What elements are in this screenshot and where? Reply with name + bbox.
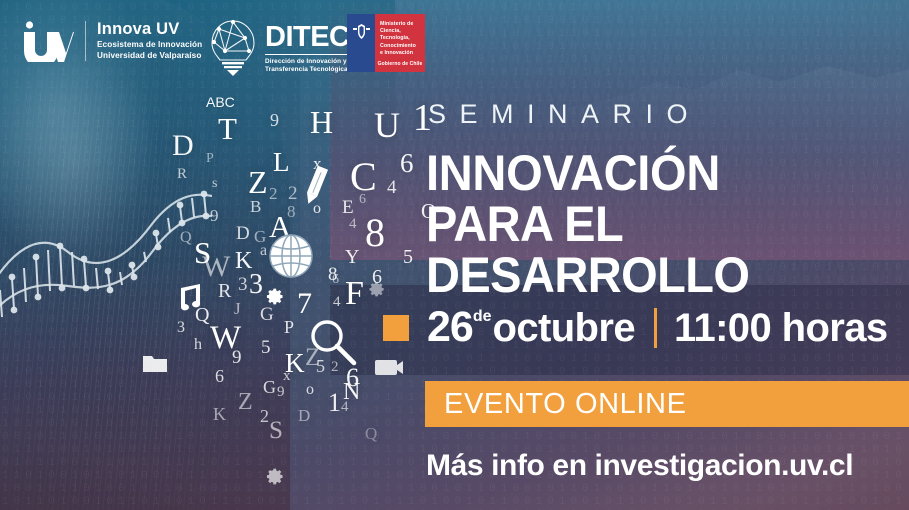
- pencil-icon: [298, 165, 332, 207]
- cloud-glyph: 4: [349, 217, 357, 232]
- logo-bar: Innova UV Ecosistema de Innovación Unive…: [0, 0, 909, 88]
- cloud-glyph: Y: [345, 247, 359, 267]
- date-time-divider: [654, 308, 657, 348]
- innova-uv-subtitle-1: Ecosistema de Innovación: [97, 40, 202, 51]
- promotional-banner: 0101100101001011010010110100101101001011…: [0, 0, 909, 510]
- ministry-line-5: e Innovación: [380, 50, 421, 57]
- cloud-glyph: S: [269, 418, 283, 443]
- flag-blue-panel: [347, 14, 375, 72]
- cloud-glyph: C: [350, 157, 377, 197]
- ditec-subtitle-1: Dirección de Innovación y: [265, 58, 350, 67]
- cloud-glyph: 2: [260, 407, 269, 425]
- headline-line-2: PARA EL DESARROLLO: [426, 199, 868, 301]
- cloud-glyph: 6: [332, 273, 339, 287]
- cloud-glyph: R: [177, 167, 187, 182]
- cloud-glyph: G: [263, 378, 276, 396]
- cloud-glyph: x: [283, 369, 291, 384]
- innova-uv-title: Innova UV: [97, 21, 202, 38]
- ministry-logo: Ministerio de Ciencia, Tecnología, Conoc…: [347, 14, 425, 72]
- cloud-glyph: 8: [287, 203, 296, 220]
- cloud-glyph: h: [194, 337, 202, 353]
- cloud-glyph: Q: [180, 230, 192, 246]
- cloud-glyph: D: [298, 407, 310, 424]
- cloud-glyph: J: [234, 300, 241, 317]
- ditec-rule: [265, 54, 350, 56]
- date-day: 26: [427, 306, 473, 349]
- gear-icon: [262, 283, 284, 305]
- cloud-glyph: 3: [177, 320, 185, 336]
- orange-square-bullet: [383, 315, 409, 341]
- cloud-glyph: E: [342, 198, 354, 217]
- gear-icon: [365, 277, 385, 297]
- cloud-glyph: 2: [269, 185, 278, 202]
- ditec-title: DITEC: [265, 24, 350, 51]
- cloud-glyph: 9: [232, 348, 242, 367]
- camera-icon: [374, 355, 404, 377]
- ministry-line-3: Tecnología,: [380, 35, 421, 42]
- cloud-glyph: 3: [249, 271, 263, 299]
- modality-banner: EVENTO ONLINE: [425, 381, 909, 427]
- globe-icon: [268, 233, 314, 279]
- cloud-glyph: 6: [215, 367, 224, 385]
- cloud-glyph: U: [374, 107, 400, 143]
- letter-number-cloud: ABCTDHU19PLxC6RZs224B9oE6QA8DG84QaSWKY52…: [150, 85, 420, 510]
- cloud-glyph: R: [218, 281, 231, 301]
- cloud-glyph: 6: [400, 150, 414, 177]
- innova-uv-subtitle-2: Universidad de Valparaíso: [97, 51, 202, 62]
- ministry-line-1: Ministerio de: [380, 21, 421, 28]
- cloud-glyph: H: [310, 106, 333, 138]
- ditec-logo: DITEC Dirección de Innovación y Transfer…: [205, 18, 350, 76]
- page-title: INNOVACIÓN PARA EL DESARROLLO: [426, 148, 868, 301]
- chile-coat-of-arms: [352, 23, 371, 41]
- cloud-glyph: P: [206, 152, 214, 166]
- date-connector: de: [473, 309, 492, 325]
- cloud-glyph: W: [202, 252, 230, 282]
- cloud-glyph: 8: [365, 213, 385, 253]
- uv-monogram: [22, 20, 74, 62]
- event-time: 11:00 horas: [674, 308, 888, 348]
- cloud-glyph: 5: [261, 338, 271, 357]
- date-time-line: 26 de octubre 11:00 horas: [383, 306, 888, 349]
- ministry-line-2: Ciencia,: [380, 28, 421, 35]
- gear-icon: [262, 463, 284, 485]
- cloud-glyph: 4: [333, 295, 341, 310]
- cloud-glyph: 4: [341, 400, 349, 415]
- cloud-glyph: D: [172, 131, 194, 161]
- cloud-glyph: L: [273, 149, 290, 176]
- cloud-glyph: 2: [288, 184, 298, 203]
- cloud-glyph: Z: [248, 166, 268, 198]
- cloud-glyph: F: [345, 277, 364, 311]
- innova-uv-logo: Innova UV Ecosistema de Innovación Unive…: [22, 20, 202, 62]
- modality-label: EVENTO ONLINE: [425, 388, 687, 421]
- cloud-glyph: 3: [238, 275, 248, 294]
- cloud-glyph: a: [260, 243, 267, 259]
- cloud-glyph: Q: [365, 425, 377, 442]
- ministry-footer: Gobierno de Chile: [375, 61, 425, 67]
- cloud-glyph: G: [260, 305, 274, 324]
- ditec-subtitle-2: Transferencia Tecnológica: [265, 66, 350, 75]
- flag-red-panel: Ministerio de Ciencia, Tecnología, Conoc…: [375, 14, 425, 72]
- network-lightbulb-icon: [205, 18, 261, 76]
- eyebrow-seminario: SEMINARIO: [428, 101, 701, 128]
- cloud-glyph: 9: [277, 385, 285, 400]
- cloud-glyph: 9: [210, 207, 219, 224]
- more-info-line: Más info en investigacion.uv.cl: [426, 449, 853, 483]
- cloud-glyph: B: [250, 198, 261, 215]
- ministry-line-4: Conocimiento: [380, 43, 421, 50]
- cloud-glyph: 6: [359, 193, 366, 207]
- cloud-glyph: K: [213, 405, 226, 423]
- cloud-glyph: T: [218, 113, 237, 144]
- cloud-glyph: ABC: [206, 95, 235, 109]
- cloud-glyph: P: [284, 318, 294, 336]
- music-note-icon: [170, 283, 200, 313]
- cloud-glyph: 9: [270, 111, 279, 129]
- headline-line-1: INNOVACIÓN: [426, 145, 720, 201]
- cloud-glyph: 1: [328, 390, 341, 416]
- cloud-glyph: D: [236, 224, 250, 243]
- cloud-glyph: 4: [387, 178, 397, 197]
- logo-divider: [85, 21, 86, 61]
- cloud-glyph: s: [212, 177, 217, 191]
- cloud-glyph: 5: [403, 247, 413, 267]
- folder-icon: [142, 353, 168, 375]
- magnifier-icon: [308, 317, 358, 367]
- cloud-glyph: Z: [238, 390, 253, 414]
- cloud-glyph: 7: [297, 289, 312, 319]
- cloud-glyph: o: [306, 382, 314, 398]
- date-month: octubre: [493, 308, 635, 348]
